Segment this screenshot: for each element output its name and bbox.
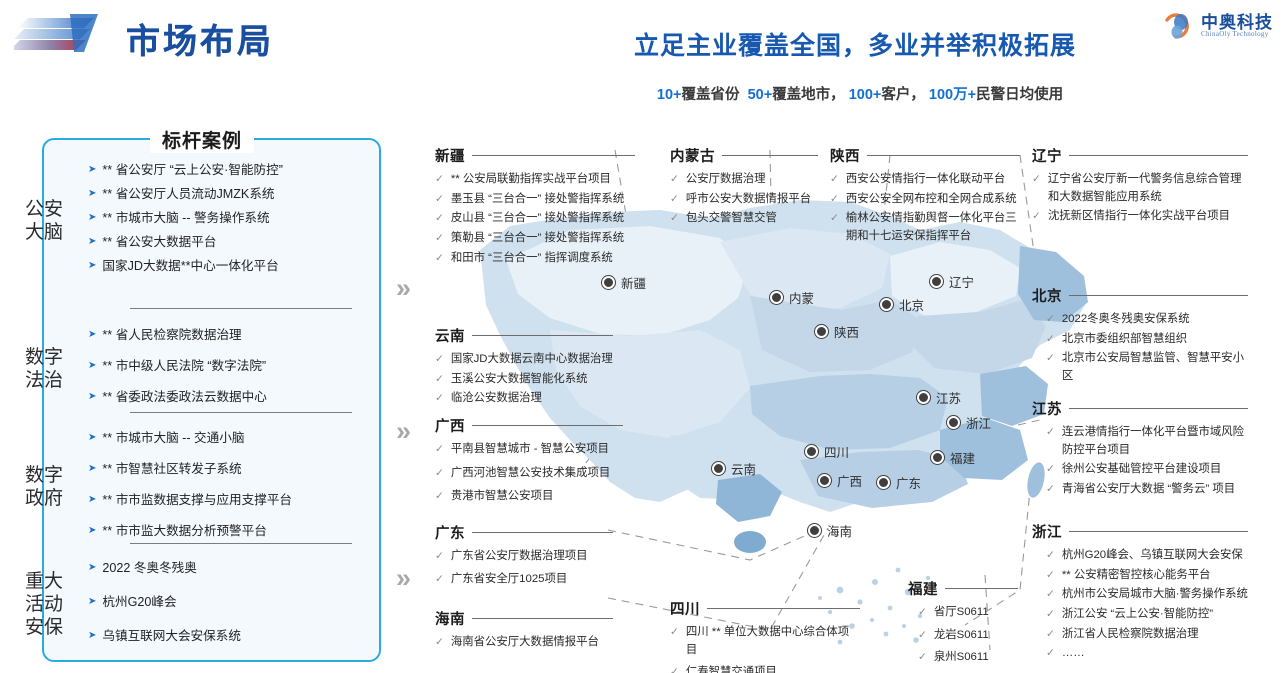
check-icon: ✓ bbox=[830, 191, 839, 208]
list-item[interactable]: ✓广东省公安厅数据治理项目 bbox=[435, 548, 613, 566]
box-header: 江苏 bbox=[1032, 398, 1248, 419]
check-icon: ✓ bbox=[435, 210, 444, 227]
item-text: 徐州公安基础管控平台建设项目 bbox=[1062, 461, 1221, 479]
item-text: 2022冬奥冬残奥安保系统 bbox=[1062, 311, 1190, 329]
info-box-guangxi: 广西 ✓平南县智慧城市 - 智慧公安项目 ✓广西河池智慧公安技术集成项目 ✓贵港… bbox=[435, 415, 623, 508]
map-pin-icon bbox=[917, 391, 930, 404]
item-text: 贵港市智慧公安项目 bbox=[451, 488, 554, 506]
list-item[interactable]: ➤** 省公安厅人员流动JMZK系统 bbox=[88, 186, 339, 204]
item-text: ** 省公安厅人员流动JMZK系统 bbox=[102, 186, 274, 204]
stat-3-label: 民警日均使用 bbox=[976, 87, 1063, 103]
item-text: 海南省公安厅大数据情报平台 bbox=[451, 634, 599, 652]
box-title: 新疆 bbox=[435, 145, 465, 166]
header-rule bbox=[472, 532, 613, 534]
check-icon: ✓ bbox=[1046, 645, 1055, 662]
check-icon: ✓ bbox=[435, 171, 444, 188]
list-item[interactable]: ✓** 公安精密智控核心能务平台 bbox=[1046, 567, 1248, 585]
item-text: 包头交警智慧交管 bbox=[686, 210, 777, 228]
page-title: 市场布局 bbox=[126, 14, 274, 63]
check-icon: ✓ bbox=[435, 441, 444, 458]
item-text: 西安公安全网布控和全网合成系统 bbox=[846, 191, 1017, 209]
list-item[interactable]: ✓广东省安全厅1025项目 bbox=[435, 571, 613, 589]
marker-label: 内蒙 bbox=[789, 288, 814, 307]
box-title: 福建 bbox=[908, 578, 938, 599]
item-text: 辽宁省公安厅新一代警务信息综合管理和大数据智能应用系统 bbox=[1048, 171, 1248, 206]
info-box-zhejiang: 浙江 ✓杭州G20峰会、乌镇互联网大会安保 ✓** 公安精密智控核心能务平台 ✓… bbox=[1032, 521, 1248, 665]
stats-line: 10+覆盖省份 50+覆盖地市， 100+客户， 100万+民警日均使用 bbox=[560, 83, 1160, 104]
box-list: ✓2022冬奥冬残奥安保系统 ✓北京市委组织部智慧组织 ✓北京市公安局智慧监管、… bbox=[1046, 311, 1248, 386]
list-item[interactable]: ✓平南县智慧城市 - 智慧公安项目 bbox=[435, 441, 623, 459]
list-item[interactable]: ✓皮山县 “三台合一” 接处警指挥系统 bbox=[435, 210, 635, 228]
box-list: ✓海南省公安厅大数据情报平台 bbox=[435, 634, 613, 652]
arrow-icon: ➤ bbox=[88, 461, 96, 477]
item-text: 呼市公安大数据情报平台 bbox=[686, 191, 811, 209]
group-digital-rule-of-law: 数字法治 ➤** 省人民检察院数据治理 ➤** 市中级人民法院 “数字法院” ➤… bbox=[0, 325, 339, 413]
chevron-right-icon-3: » bbox=[396, 565, 406, 592]
list-item[interactable]: ✓…… bbox=[1046, 645, 1248, 663]
marker-label: 广东 bbox=[896, 473, 921, 492]
check-icon: ✓ bbox=[1046, 350, 1055, 367]
info-box-liaoning: 辽宁 ✓辽宁省公安厅新一代警务信息综合管理和大数据智能应用系统 ✓沈抚新区情指行… bbox=[1032, 145, 1248, 228]
header-rule bbox=[472, 618, 613, 620]
arrow-icon: ➤ bbox=[88, 628, 96, 644]
item-text: 青海省公安厅大数据 “警务云” 项目 bbox=[1062, 481, 1235, 499]
list-item[interactable]: ➤** 市市监大数据分析预警平台 bbox=[88, 523, 339, 541]
box-list: ✓连云港情指行一体化平台暨市域风险防控平台项目 ✓徐州公安基础管控平台建设项目 … bbox=[1046, 424, 1248, 499]
item-text: 杭州G20峰会、乌镇互联网大会安保 bbox=[1062, 547, 1243, 565]
map-marker-zhejiang[interactable]: 浙江 bbox=[947, 413, 991, 432]
box-header: 四川 bbox=[670, 598, 860, 619]
box-title: 辽宁 bbox=[1032, 145, 1062, 166]
list-item[interactable]: ✓海南省公安厅大数据情报平台 bbox=[435, 634, 613, 652]
box-header: 海南 bbox=[435, 608, 613, 629]
box-header: 福建 bbox=[908, 578, 1018, 599]
box-title: 江苏 bbox=[1032, 398, 1062, 419]
item-text: ** 市城市大脑 -- 交通小脑 bbox=[102, 430, 244, 448]
check-icon: ✓ bbox=[670, 210, 679, 227]
box-title: 北京 bbox=[1032, 285, 1062, 306]
marker-label: 陕西 bbox=[834, 322, 859, 341]
list-item[interactable]: ➤** 市中级人民法院 “数字法院” bbox=[88, 358, 339, 376]
list-item[interactable]: ✓青海省公安厅大数据 “警务云” 项目 bbox=[1046, 481, 1248, 499]
header-rule bbox=[1069, 155, 1248, 157]
item-text: ** 市城市大脑 -- 警务操作系统 bbox=[102, 210, 269, 228]
item-text: 浙江省人民检察院数据治理 bbox=[1062, 626, 1199, 644]
check-icon: ✓ bbox=[1046, 331, 1055, 348]
list-item[interactable]: ➤** 省公安厅 “云上公安·智能防控” bbox=[88, 162, 339, 180]
item-text: …… bbox=[1062, 645, 1085, 663]
map-marker-sichuan[interactable]: 四川 bbox=[805, 442, 849, 461]
info-box-guangdong: 广东 ✓广东省公安厅数据治理项目 ✓广东省安全厅1025项目 bbox=[435, 522, 613, 590]
check-icon: ✓ bbox=[1046, 586, 1055, 603]
map-pin-icon bbox=[712, 462, 725, 475]
slide-root: 市场布局 立足主业覆盖全国，多业并举积极拓展 10+覆盖省份 50+覆盖地市， … bbox=[0, 0, 1287, 673]
item-text: 广东省安全厅1025项目 bbox=[451, 571, 567, 589]
stat-2-num: 100+ bbox=[849, 87, 882, 103]
arrow-icon: ➤ bbox=[88, 186, 96, 202]
item-text: 广东省公安厅数据治理项目 bbox=[451, 548, 588, 566]
list-item[interactable]: ✓贵港市智慧公安项目 bbox=[435, 488, 623, 506]
check-icon: ✓ bbox=[830, 171, 839, 188]
item-text: 西安公安情指行一体化联动平台 bbox=[846, 171, 1005, 189]
list-item[interactable]: ✓浙江省人民检察院数据治理 bbox=[1046, 626, 1248, 644]
stat-0-num: 10+ bbox=[657, 87, 682, 103]
list-item[interactable]: ➤国家JD大数据**中心一体化平台 bbox=[88, 258, 339, 276]
box-header: 浙江 bbox=[1032, 521, 1248, 542]
check-icon: ✓ bbox=[435, 390, 444, 407]
check-icon: ✓ bbox=[830, 210, 839, 227]
box-title: 广西 bbox=[435, 415, 465, 436]
info-box-sichuan: 四川 ✓四川 ** 单位大数据中心综合体项目 ✓仁寿智慧交通项目 bbox=[670, 598, 860, 673]
check-icon: ✓ bbox=[1032, 171, 1041, 188]
check-icon: ✓ bbox=[1046, 311, 1055, 328]
info-box-shaanxi: 陕西 ✓西安公安情指行一体化联动平台 ✓西安公安全网布控和全网合成系统 ✓榆林公… bbox=[830, 145, 1020, 248]
map-pin-icon bbox=[818, 474, 831, 487]
group-major-event-security: 重大活动安保 ➤2022 冬奥冬残奥 ➤杭州G20峰会 ➤乌镇互联网大会安保系统 bbox=[0, 558, 339, 652]
list-item[interactable]: ✓呼市公安大数据情报平台 bbox=[670, 191, 818, 209]
map-pin-icon bbox=[947, 416, 960, 429]
group-label: 重大活动安保 bbox=[0, 558, 88, 652]
arrow-icon: ➤ bbox=[88, 327, 96, 343]
list-item[interactable]: ✓泉州S0611 bbox=[918, 649, 1018, 667]
item-text: 策勒县 “三台合一” 接处警指挥系统 bbox=[451, 230, 624, 248]
header-rule bbox=[945, 588, 1018, 590]
box-header: 广西 bbox=[435, 415, 623, 436]
arrow-icon: ➤ bbox=[88, 210, 96, 226]
brand-ribbon-logo-icon bbox=[14, 12, 110, 64]
item-text: 浙江公安 “云上公安·智能防控” bbox=[1062, 606, 1213, 624]
list-item[interactable]: ✓徐州公安基础管控平台建设项目 bbox=[1046, 461, 1248, 479]
info-box-hainan: 海南 ✓海南省公安厅大数据情报平台 bbox=[435, 608, 613, 654]
check-icon: ✓ bbox=[1046, 626, 1055, 643]
list-item[interactable]: ✓公安厅数据治理 bbox=[670, 171, 818, 189]
map-marker-beijing[interactable]: 北京 bbox=[880, 295, 924, 314]
map-marker-neimeng[interactable]: 内蒙 bbox=[770, 288, 814, 307]
item-text: ** 市市监大数据分析预警平台 bbox=[102, 523, 266, 541]
item-text: 乌镇互联网大会安保系统 bbox=[102, 628, 241, 646]
list-item[interactable]: ➤乌镇互联网大会安保系统 bbox=[88, 628, 339, 646]
marker-label: 云南 bbox=[731, 459, 756, 478]
box-header: 陕西 bbox=[830, 145, 1020, 166]
item-text: 平南县智慧城市 - 智慧公安项目 bbox=[451, 441, 609, 459]
box-title: 海南 bbox=[435, 608, 465, 629]
company-logo: 中奥科技 ChinaOly Technology bbox=[1161, 8, 1273, 48]
stat-2-label: 客户， bbox=[881, 87, 925, 103]
info-box-neimenggu: 内蒙古 ✓公安厅数据治理 ✓呼市公安大数据情报平台 ✓包头交警智慧交管 bbox=[670, 145, 818, 230]
map-marker-xinjiang[interactable]: 新疆 bbox=[602, 273, 646, 292]
arrow-icon: ➤ bbox=[88, 560, 96, 576]
arrow-icon: ➤ bbox=[88, 594, 96, 610]
check-icon: ✓ bbox=[1046, 424, 1055, 441]
arrow-icon: ➤ bbox=[88, 162, 96, 178]
marker-label: 海南 bbox=[827, 521, 852, 540]
item-text: 2022 冬奥冬残奥 bbox=[102, 560, 196, 578]
list-item[interactable]: ✓策勒县 “三台合一” 接处警指挥系统 bbox=[435, 230, 635, 248]
list-item[interactable]: ✓省厅S0611 bbox=[918, 604, 1018, 622]
item-text: 省厅S0611 bbox=[934, 604, 989, 622]
info-box-yunnan: 云南 ✓国家JD大数据云南中心数据治理 ✓玉溪公安大数据智能化系统 ✓临沧公安数… bbox=[435, 325, 613, 410]
map-marker-shaanxi[interactable]: 陕西 bbox=[815, 322, 859, 341]
item-text: ** 公安精密智控核心能务平台 bbox=[1062, 567, 1211, 585]
box-list: ✓辽宁省公安厅新一代警务信息综合管理和大数据智能应用系统 ✓沈抚新区情指行一体化… bbox=[1032, 171, 1248, 226]
item-text: ** 市市监数据支撑与应用支撑平台 bbox=[102, 492, 292, 510]
check-icon: ✓ bbox=[670, 191, 679, 208]
header-rule bbox=[1069, 408, 1248, 410]
check-icon: ✓ bbox=[435, 634, 444, 651]
item-text: 仁寿智慧交通项目 bbox=[686, 664, 777, 673]
map-pin-icon bbox=[808, 524, 821, 537]
arrow-icon: ➤ bbox=[88, 258, 96, 274]
info-box-xinjiang: 新疆 ✓** 公安局联勤指挥实战平台项目 ✓墨玉县 “三台合一” 接处警指挥系统… bbox=[435, 145, 635, 269]
list-item[interactable]: ➤** 省人民检察院数据治理 bbox=[88, 327, 339, 345]
check-icon: ✓ bbox=[1046, 567, 1055, 584]
map-pin-icon bbox=[877, 476, 890, 489]
box-list: ✓广东省公安厅数据治理项目 ✓广东省安全厅1025项目 bbox=[435, 548, 613, 588]
check-icon: ✓ bbox=[918, 649, 927, 666]
item-text: 北京市委组织部智慧组织 bbox=[1062, 331, 1187, 349]
header-rule bbox=[722, 155, 818, 157]
list-item[interactable]: ✓墨玉县 “三台合一” 接处警指挥系统 bbox=[435, 191, 635, 209]
box-list: ✓四川 ** 单位大数据中心综合体项目 ✓仁寿智慧交通项目 bbox=[670, 624, 860, 673]
check-icon: ✓ bbox=[435, 371, 444, 388]
header-rule bbox=[472, 335, 613, 337]
chevron-right-icon-2: » bbox=[396, 418, 406, 445]
item-text: ** 省公安大数据平台 bbox=[102, 234, 216, 252]
map-marker-yunnan[interactable]: 云南 bbox=[712, 459, 756, 478]
map-pin-icon bbox=[930, 275, 943, 288]
list-item[interactable]: ➤** 市智慧社区转发子系统 bbox=[88, 461, 339, 479]
list-item[interactable]: ✓连云港情指行一体化平台暨市域风险防控平台项目 bbox=[1046, 424, 1248, 459]
panel-title: 标杆案例 bbox=[150, 126, 254, 153]
list-item[interactable]: ✓** 公安局联勤指挥实战平台项目 bbox=[435, 171, 635, 189]
item-text: ** 公安局联勤指挥实战平台项目 bbox=[451, 171, 611, 189]
map-pin-icon bbox=[931, 451, 944, 464]
divider bbox=[130, 543, 352, 544]
check-icon: ✓ bbox=[435, 191, 444, 208]
group-digital-government: 数字政府 ➤** 市城市大脑 -- 交通小脑 ➤** 市智慧社区转发子系统 ➤*… bbox=[0, 428, 339, 547]
list-item[interactable]: ✓北京市公安局智慧监管、智慧平安小区 bbox=[1046, 350, 1248, 385]
marker-label: 广西 bbox=[837, 471, 862, 490]
list-item[interactable]: ✓杭州市公安局城市大脑·警务操作系统 bbox=[1046, 586, 1248, 604]
box-header: 内蒙古 bbox=[670, 145, 818, 166]
header-rule bbox=[472, 155, 635, 157]
marker-label: 四川 bbox=[824, 442, 849, 461]
headline: 立足主业覆盖全国，多业并举积极拓展 bbox=[560, 26, 1150, 62]
map-marker-hainan[interactable]: 海南 bbox=[808, 521, 852, 540]
arrow-icon: ➤ bbox=[88, 389, 96, 405]
map-marker-fujian[interactable]: 福建 bbox=[931, 448, 975, 467]
item-text: 墨玉县 “三台合一” 接处警指挥系统 bbox=[451, 191, 624, 209]
check-icon: ✓ bbox=[1046, 606, 1055, 623]
item-text: 四川 ** 单位大数据中心综合体项目 bbox=[686, 624, 860, 659]
item-text: 玉溪公安大数据智能化系统 bbox=[451, 371, 588, 389]
map-marker-guangxi[interactable]: 广西 bbox=[818, 471, 862, 490]
arrow-icon: ➤ bbox=[88, 234, 96, 250]
list-item[interactable]: ✓2022冬奥冬残奥安保系统 bbox=[1046, 311, 1248, 329]
list-item[interactable]: ✓沈抚新区情指行一体化实战平台项目 bbox=[1032, 208, 1248, 226]
list-item[interactable]: ➤** 市城市大脑 -- 警务操作系统 bbox=[88, 210, 339, 228]
group-label: 公安大脑 bbox=[0, 160, 88, 281]
map-marker-jiangsu[interactable]: 江苏 bbox=[917, 388, 961, 407]
stat-3-num: 100万+ bbox=[929, 87, 976, 103]
stat-1-label: 覆盖地市， bbox=[772, 87, 845, 103]
header-rule bbox=[1069, 295, 1248, 297]
check-icon: ✓ bbox=[1046, 481, 1055, 498]
item-text: 杭州G20峰会 bbox=[102, 594, 176, 612]
map-pin-icon bbox=[805, 445, 818, 458]
map-pin-icon bbox=[880, 298, 893, 311]
list-item[interactable]: ➤** 省公安大数据平台 bbox=[88, 234, 339, 252]
header-rule bbox=[867, 155, 1020, 157]
box-list: ✓公安厅数据治理 ✓呼市公安大数据情报平台 ✓包头交警智慧交管 bbox=[670, 171, 818, 228]
stat-1-num: 50+ bbox=[748, 87, 773, 103]
list-item[interactable]: ➤杭州G20峰会 bbox=[88, 594, 339, 612]
group-public-security-brain: 公安大脑 ➤** 省公安厅 “云上公安·智能防控” ➤** 省公安厅人员流动JM… bbox=[0, 160, 339, 281]
group-label: 数字法治 bbox=[0, 325, 88, 413]
list-item[interactable]: ✓西安公安情指行一体化联动平台 bbox=[830, 171, 1020, 189]
item-text: 临沧公安数据治理 bbox=[451, 390, 542, 408]
check-icon: ✓ bbox=[435, 571, 444, 588]
info-box-beijing: 北京 ✓2022冬奥冬残奥安保系统 ✓北京市委组织部智慧组织 ✓北京市公安局智慧… bbox=[1032, 285, 1248, 388]
item-text: 公安厅数据治理 bbox=[686, 171, 766, 189]
marker-label: 江苏 bbox=[936, 388, 961, 407]
stat-0-label: 覆盖省份 bbox=[682, 87, 740, 103]
item-text: 沈抚新区情指行一体化实战平台项目 bbox=[1048, 208, 1230, 226]
check-icon: ✓ bbox=[918, 604, 927, 621]
check-icon: ✓ bbox=[435, 488, 444, 505]
item-text: 北京市公安局智慧监管、智慧平安小区 bbox=[1062, 350, 1248, 385]
list-item[interactable]: ✓榆林公安情指勤舆督一体化平台三期和十七运安保指挥平台 bbox=[830, 210, 1020, 245]
item-text: 国家JD大数据云南中心数据治理 bbox=[451, 351, 613, 369]
check-icon: ✓ bbox=[918, 627, 927, 644]
box-header: 北京 bbox=[1032, 285, 1248, 306]
list-item[interactable]: ✓龙岩S0611 bbox=[918, 627, 1018, 645]
list-item[interactable]: ✓仁寿智慧交通项目 bbox=[670, 664, 860, 673]
list-item[interactable]: ✓辽宁省公安厅新一代警务信息综合管理和大数据智能应用系统 bbox=[1032, 171, 1248, 206]
list-item[interactable]: ✓包头交警智慧交管 bbox=[670, 210, 818, 228]
list-item[interactable]: ✓浙江公安 “云上公安·智能防控” bbox=[1046, 606, 1248, 624]
list-item[interactable]: ✓国家JD大数据云南中心数据治理 bbox=[435, 351, 613, 369]
box-list: ✓** 公安局联勤指挥实战平台项目 ✓墨玉县 “三台合一” 接处警指挥系统 ✓皮… bbox=[435, 171, 635, 267]
box-list: ✓西安公安情指行一体化联动平台 ✓西安公安全网布控和全网合成系统 ✓榆林公安情指… bbox=[830, 171, 1020, 246]
box-header: 辽宁 bbox=[1032, 145, 1248, 166]
box-list: ✓国家JD大数据云南中心数据治理 ✓玉溪公安大数据智能化系统 ✓临沧公安数据治理 bbox=[435, 351, 613, 408]
list-item[interactable]: ✓玉溪公安大数据智能化系统 bbox=[435, 371, 613, 389]
box-header: 云南 bbox=[435, 325, 613, 346]
info-box-fujian: 福建 ✓省厅S0611 ✓龙岩S0611 ✓泉州S0611 bbox=[908, 578, 1018, 669]
box-header: 新疆 bbox=[435, 145, 635, 166]
chevron-right-icon-1: » bbox=[396, 275, 406, 302]
box-title: 内蒙古 bbox=[670, 145, 715, 166]
item-text: 皮山县 “三台合一” 接处警指挥系统 bbox=[451, 210, 624, 228]
check-icon: ✓ bbox=[1046, 547, 1055, 564]
info-box-jiangsu: 江苏 ✓连云港情指行一体化平台暨市域风险防控平台项目 ✓徐州公安基础管控平台建设… bbox=[1032, 398, 1248, 501]
check-icon: ✓ bbox=[1046, 461, 1055, 478]
marker-label: 新疆 bbox=[621, 273, 646, 292]
list-item[interactable]: ✓广西河池智慧公安技术集成项目 bbox=[435, 465, 623, 483]
box-title: 云南 bbox=[435, 325, 465, 346]
map-marker-guangdong[interactable]: 广东 bbox=[877, 473, 921, 492]
item-text: 龙岩S0611 bbox=[934, 627, 989, 645]
marker-label: 北京 bbox=[899, 295, 924, 314]
list-item[interactable]: ✓和田市 “三台合一” 指挥调度系统 bbox=[435, 250, 635, 268]
marker-label: 辽宁 bbox=[949, 272, 974, 291]
check-icon: ✓ bbox=[435, 351, 444, 368]
list-item[interactable]: ✓北京市委组织部智慧组织 bbox=[1046, 331, 1248, 349]
list-item[interactable]: ✓临沧公安数据治理 bbox=[435, 390, 613, 408]
item-text: 国家JD大数据**中心一体化平台 bbox=[102, 258, 278, 276]
list-item[interactable]: ➤** 市市监数据支撑与应用支撑平台 bbox=[88, 492, 339, 510]
item-text: 连云港情指行一体化平台暨市域风险防控平台项目 bbox=[1062, 424, 1248, 459]
item-text: 广西河池智慧公安技术集成项目 bbox=[451, 465, 610, 483]
box-header: 广东 bbox=[435, 522, 613, 543]
map-pin-icon bbox=[602, 276, 615, 289]
check-icon: ✓ bbox=[670, 171, 679, 188]
item-text: ** 省公安厅 “云上公安·智能防控” bbox=[102, 162, 283, 180]
item-text: ** 省委政法委政法云数据中心 bbox=[102, 389, 266, 407]
box-list: ✓杭州G20峰会、乌镇互联网大会安保 ✓** 公安精密智控核心能务平台 ✓杭州市… bbox=[1046, 547, 1248, 663]
item-text: 和田市 “三台合一” 指挥调度系统 bbox=[451, 250, 613, 268]
list-item[interactable]: ➤** 市城市大脑 -- 交通小脑 bbox=[88, 430, 339, 448]
divider bbox=[130, 412, 352, 413]
list-item[interactable]: ✓四川 ** 单位大数据中心综合体项目 bbox=[670, 624, 860, 659]
list-item[interactable]: ✓西安公安全网布控和全网合成系统 bbox=[830, 191, 1020, 209]
item-text: ** 省人民检察院数据治理 bbox=[102, 327, 241, 345]
check-icon: ✓ bbox=[435, 548, 444, 565]
check-icon: ✓ bbox=[435, 465, 444, 482]
check-icon: ✓ bbox=[435, 250, 444, 267]
marker-label: 福建 bbox=[950, 448, 975, 467]
item-text: 榆林公安情指勤舆督一体化平台三期和十七运安保指挥平台 bbox=[846, 210, 1020, 245]
item-text: 泉州S0611 bbox=[934, 649, 989, 667]
check-icon: ✓ bbox=[670, 624, 679, 641]
item-text: 杭州市公安局城市大脑·警务操作系统 bbox=[1062, 586, 1248, 604]
box-title: 陕西 bbox=[830, 145, 860, 166]
list-item[interactable]: ➤2022 冬奥冬残奥 bbox=[88, 560, 339, 578]
arrow-icon: ➤ bbox=[88, 523, 96, 539]
brand-name-en: ChinaOly Technology bbox=[1201, 30, 1269, 38]
check-icon: ✓ bbox=[670, 664, 679, 673]
box-title: 四川 bbox=[670, 598, 700, 619]
box-title: 广东 bbox=[435, 522, 465, 543]
arrow-icon: ➤ bbox=[88, 358, 96, 374]
header-rule bbox=[472, 425, 623, 427]
item-text: ** 市中级人民法院 “数字法院” bbox=[102, 358, 266, 376]
map-pin-icon bbox=[770, 291, 783, 304]
check-icon: ✓ bbox=[1032, 208, 1041, 225]
group-label: 数字政府 bbox=[0, 428, 88, 547]
item-text: ** 市智慧社区转发子系统 bbox=[102, 461, 241, 479]
header-rule bbox=[1069, 531, 1248, 533]
list-item[interactable]: ➤** 省委政法委政法云数据中心 bbox=[88, 389, 339, 407]
marker-label: 浙江 bbox=[966, 413, 991, 432]
box-list: ✓平南县智慧城市 - 智慧公安项目 ✓广西河池智慧公安技术集成项目 ✓贵港市智慧… bbox=[435, 441, 623, 506]
arrow-icon: ➤ bbox=[88, 492, 96, 508]
header-rule bbox=[707, 608, 860, 610]
divider bbox=[130, 308, 352, 309]
map-marker-liaoning[interactable]: 辽宁 bbox=[930, 272, 974, 291]
check-icon: ✓ bbox=[435, 230, 444, 247]
box-title: 浙江 bbox=[1032, 521, 1062, 542]
map-pin-icon bbox=[815, 325, 828, 338]
box-list: ✓省厅S0611 ✓龙岩S0611 ✓泉州S0611 bbox=[918, 604, 1018, 667]
list-item[interactable]: ✓杭州G20峰会、乌镇互联网大会安保 bbox=[1046, 547, 1248, 565]
arrow-icon: ➤ bbox=[88, 430, 96, 446]
